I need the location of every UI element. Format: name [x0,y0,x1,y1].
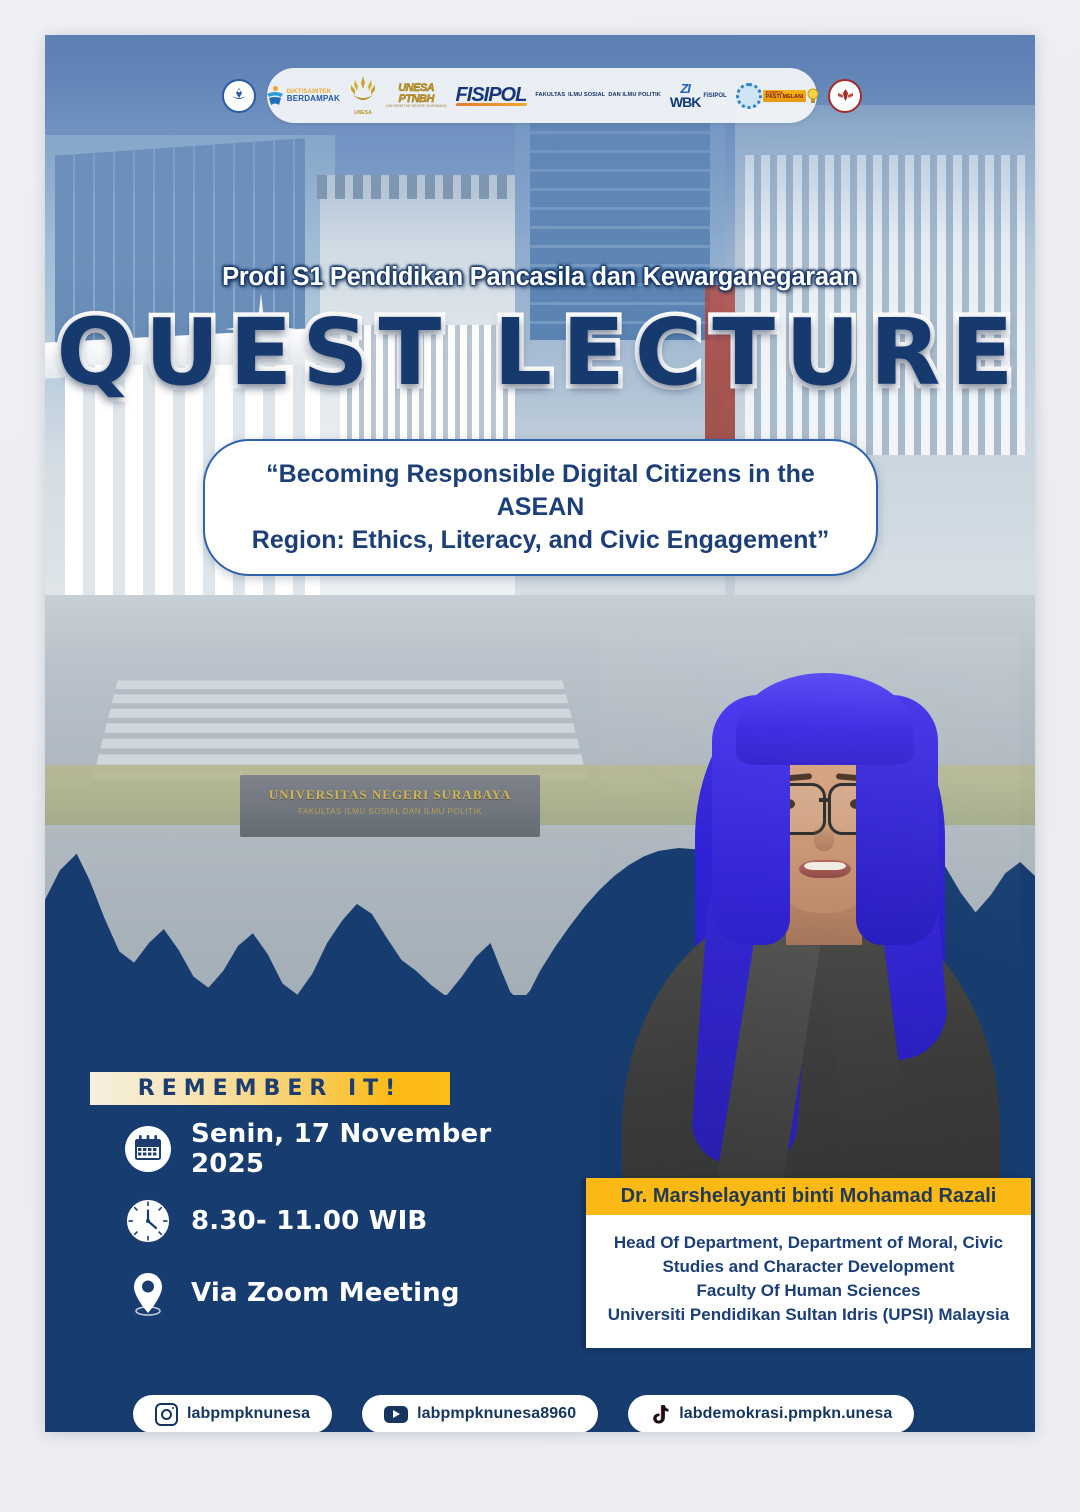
speaker-info-card: Dr. Marshelayanti binti Mohamad Razali H… [582,1178,1031,1348]
youtube-handle: labpmpknunesa8960 [417,1405,576,1423]
instagram-handle: labpmpknunesa [187,1405,310,1423]
pasti-line-bottom: PASTI MELANI [766,95,804,100]
speaker-role-line-2: Studies and Character Development [602,1255,1015,1279]
building-center-roof [317,175,543,199]
unesa-emblem-icon [349,75,377,107]
instagram-icon [155,1403,178,1426]
location-pin-icon [125,1270,171,1316]
fisipol-wordmark: FISIPOL [456,84,527,107]
campus-sign-subtext: FAKULTAS ILMU SOSIAL DAN ILMU POLITIK [245,807,535,816]
diktisaintek-mark-icon [265,85,285,107]
logo-unesa-ptnbh: UNESA PTNBH UNIVERSITAS NEGERI SURABAYA [386,83,447,108]
lecture-theme-box: “Becoming Responsible Digital Citizens i… [203,439,878,576]
speaker-role-line-4: Universiti Pendidikan Sultan Idris (UPSI… [602,1303,1015,1327]
zi-wbk-wordmark: ZI WBK [670,82,700,109]
fakultas-line-3: DAN ILMU POLITIK [608,92,661,98]
clock-icon [125,1198,171,1244]
logo-tut-wuri-handayani [222,79,256,113]
remember-it-banner: REMEMBER IT! [90,1072,450,1105]
logo-diktisaintek-berdampak: DIKTISAINTEK BERDAMPAK [265,85,340,107]
logo-fisipol-pasti-melani: FISIPOL PASTI MELANI [736,83,820,109]
zi-wbk-fisipol-label: FISIPOL [703,93,726,99]
gear-icon [736,83,762,109]
youtube-icon [384,1406,408,1423]
speaker-teeth [804,862,846,870]
logo-garuda-pancasila [828,79,862,113]
speaker-nose [814,825,834,851]
pasti-melani-flag: FISIPOL PASTI MELANI [763,90,807,102]
ptnbh-line-sub: UNIVERSITAS NEGERI SURABAYA [386,105,447,108]
quest-lecture-title-wrap: QUEST LECTURE [45,303,1035,413]
diktisaintek-wordmark: DIKTISAINTEK BERDAMPAK [287,89,340,103]
speaker-role-line-3: Faculty Of Human Sciences [602,1279,1015,1303]
fakultas-line-1: FAKULTAS [535,92,565,98]
event-details-list: Senin, 17 November 2025 8.30- 11. [125,1120,555,1336]
speaker-role-line-1: Head Of Department, Department of Moral,… [602,1231,1015,1255]
campus-sign-text: UNIVERSITAS NEGERI SURABAYA [245,787,535,803]
logo-fisipol: FISIPOL [456,84,527,107]
lightbulb-icon [807,88,819,104]
partner-logo-bar: DIKTISAINTEK BERDAMPAK UNESA UNESA [267,68,817,123]
garuda-pancasila-icon [828,79,862,113]
event-time-value: 8.30- 11.00 WIB [191,1206,427,1236]
logo-zi-wbk: ZI WBK FISIPOL [670,82,727,109]
event-detail-time-row: 8.30- 11.00 WIB [125,1192,555,1250]
speaker-role-block: Head Of Department, Department of Moral,… [586,1215,1031,1348]
event-detail-date-row: Senin, 17 November 2025 [125,1120,555,1178]
lecture-theme-line-1: “Becoming Responsible Digital Citizens i… [235,458,846,524]
logo-unesa-emblem: UNESA [349,75,377,116]
social-youtube[interactable]: labpmpknunesa8960 [362,1395,598,1432]
lecture-theme-line-2: Region: Ethics, Literacy, and Civic Enga… [235,524,846,557]
program-study-label: Prodi S1 Pendidikan Pancasila dan Kewarg… [45,263,1035,292]
event-poster: UNIVERSITAS NEGERI SURABAYA FAKULTAS ILM… [45,35,1035,1432]
unesa-ptnbh-wordmark: UNESA PTNBH UNIVERSITAS NEGERI SURABAYA [386,83,447,108]
unesa-emblem-caption: UNESA [349,110,377,116]
event-date-value: Senin, 17 November 2025 [191,1119,555,1179]
page-title: QUEST LECTURE [57,303,1024,402]
eyeglasses-bridge [819,798,831,802]
tiktok-icon [650,1404,670,1425]
social-links-bar: labpmpknunesa labpmpknunesa8960 labdemok… [133,1395,914,1432]
wbk-label: WBK [670,95,700,109]
social-tiktok[interactable]: labdemokrasi.pmpkn.unesa [628,1395,914,1432]
campus-sign-board [240,775,540,837]
event-location-value: Via Zoom Meeting [191,1278,460,1308]
hijab-crown [736,673,914,765]
logo-fakultas-ilmu-sosial: FAKULTAS ILMU SOSIAL DAN ILMU POLITIK [535,92,661,98]
berdampak-label: BERDAMPAK [287,95,340,103]
calendar-icon [125,1126,171,1172]
social-instagram[interactable]: labpmpknunesa [133,1395,332,1432]
remember-it-label: REMEMBER IT! [138,1076,402,1101]
tut-wuri-handayani-icon [222,79,256,113]
speaker-name: Dr. Marshelayanti binti Mohamad Razali [586,1178,1031,1215]
event-detail-location-row: Via Zoom Meeting [125,1264,555,1322]
tiktok-handle: labdemokrasi.pmpkn.unesa [679,1405,892,1423]
fakultas-line-2: ILMU SOSIAL [568,92,605,98]
